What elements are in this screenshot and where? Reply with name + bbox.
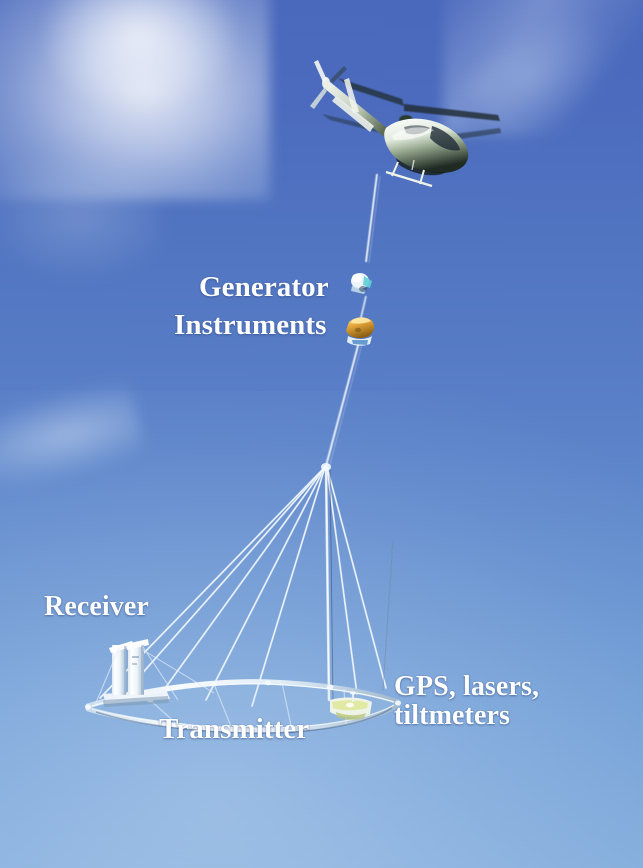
label-instruments: Instruments bbox=[174, 310, 327, 340]
photo-canvas: Generator Instruments Receiver Transmitt… bbox=[0, 0, 643, 868]
label-gps-lasers-tiltmeters: GPS, lasers, tiltmeters bbox=[394, 672, 539, 730]
label-generator: Generator bbox=[199, 272, 329, 302]
label-gps-line2: tiltmeters bbox=[394, 701, 539, 730]
generator-pod bbox=[351, 273, 372, 294]
label-transmitter: Transmitter bbox=[159, 714, 309, 744]
helicopter-icon bbox=[310, 60, 501, 186]
towed-rig-assembly bbox=[0, 0, 643, 868]
label-gps-line1: GPS, lasers, bbox=[394, 671, 539, 702]
instrument-pod bbox=[346, 317, 374, 345]
label-receiver: Receiver bbox=[44, 592, 149, 621]
